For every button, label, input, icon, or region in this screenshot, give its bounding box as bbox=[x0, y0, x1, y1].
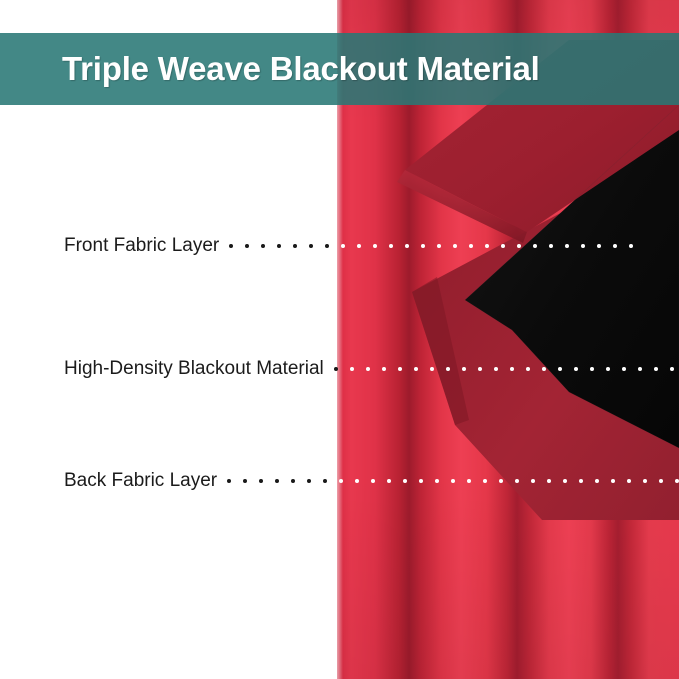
dot-icon bbox=[574, 367, 578, 371]
dot-icon bbox=[565, 244, 569, 248]
dot-icon bbox=[467, 479, 471, 483]
dot-icon bbox=[243, 479, 247, 483]
leader-dots-high-density-blackout-material bbox=[324, 356, 679, 382]
dot-icon bbox=[499, 479, 503, 483]
dot-icon bbox=[469, 244, 473, 248]
dot-icon bbox=[371, 479, 375, 483]
dot-icon bbox=[627, 479, 631, 483]
dot-icon bbox=[373, 244, 377, 248]
callout-back-fabric-layer: Back Fabric Layer bbox=[0, 468, 679, 494]
dot-icon bbox=[659, 479, 663, 483]
dot-icon bbox=[581, 244, 585, 248]
dot-icon bbox=[579, 479, 583, 483]
dot-icon bbox=[494, 367, 498, 371]
dot-icon bbox=[485, 244, 489, 248]
dot-icon bbox=[622, 367, 626, 371]
dot-icon bbox=[547, 479, 551, 483]
dot-icon bbox=[606, 367, 610, 371]
dot-icon bbox=[638, 367, 642, 371]
dot-icon bbox=[387, 479, 391, 483]
page-title: Triple Weave Blackout Material bbox=[62, 50, 540, 88]
dot-icon bbox=[382, 367, 386, 371]
dot-icon bbox=[419, 479, 423, 483]
dot-icon bbox=[451, 479, 455, 483]
dot-icon bbox=[549, 244, 553, 248]
dot-icon bbox=[510, 367, 514, 371]
dot-icon bbox=[414, 367, 418, 371]
product-infographic: Triple Weave Blackout Material Front Fab… bbox=[0, 0, 679, 679]
dot-icon bbox=[533, 244, 537, 248]
dot-icon bbox=[309, 244, 313, 248]
dot-icon bbox=[611, 479, 615, 483]
dot-icon bbox=[325, 244, 329, 248]
header-banner: Triple Weave Blackout Material bbox=[0, 33, 679, 105]
dot-icon bbox=[293, 244, 297, 248]
dot-icon bbox=[366, 367, 370, 371]
dot-icon bbox=[398, 367, 402, 371]
leader-dots-front-fabric-layer bbox=[219, 233, 645, 259]
dot-icon bbox=[613, 244, 617, 248]
dot-icon bbox=[357, 244, 361, 248]
dot-icon bbox=[654, 367, 658, 371]
dot-icon bbox=[558, 367, 562, 371]
callout-label-front-fabric-layer: Front Fabric Layer bbox=[0, 233, 219, 259]
dot-icon bbox=[515, 479, 519, 483]
dot-icon bbox=[563, 479, 567, 483]
dot-icon bbox=[350, 367, 354, 371]
dot-icon bbox=[245, 244, 249, 248]
dot-icon bbox=[670, 367, 674, 371]
dot-icon bbox=[462, 367, 466, 371]
dot-icon bbox=[526, 367, 530, 371]
dot-icon bbox=[478, 367, 482, 371]
dot-icon bbox=[675, 479, 679, 483]
dot-icon bbox=[334, 367, 338, 371]
dot-icon bbox=[403, 479, 407, 483]
dot-icon bbox=[531, 479, 535, 483]
callout-high-density-blackout-material: High-Density Blackout Material bbox=[0, 356, 679, 382]
dot-icon bbox=[517, 244, 521, 248]
dot-icon bbox=[643, 479, 647, 483]
dot-icon bbox=[229, 244, 233, 248]
dot-icon bbox=[307, 479, 311, 483]
dot-icon bbox=[501, 244, 505, 248]
dot-icon bbox=[453, 244, 457, 248]
callout-front-fabric-layer: Front Fabric Layer bbox=[0, 233, 679, 259]
dot-icon bbox=[277, 244, 281, 248]
dot-icon bbox=[629, 244, 633, 248]
dot-icon bbox=[227, 479, 231, 483]
dot-icon bbox=[341, 244, 345, 248]
dot-icon bbox=[389, 244, 393, 248]
dot-icon bbox=[446, 367, 450, 371]
callout-label-back-fabric-layer: Back Fabric Layer bbox=[0, 468, 217, 494]
dot-icon bbox=[291, 479, 295, 483]
dot-icon bbox=[275, 479, 279, 483]
dot-icon bbox=[542, 367, 546, 371]
dot-icon bbox=[421, 244, 425, 248]
dot-icon bbox=[323, 479, 327, 483]
dot-icon bbox=[435, 479, 439, 483]
dot-icon bbox=[483, 479, 487, 483]
dot-icon bbox=[437, 244, 441, 248]
dot-icon bbox=[259, 479, 263, 483]
dot-icon bbox=[405, 244, 409, 248]
dot-icon bbox=[595, 479, 599, 483]
callout-label-high-density-blackout-material: High-Density Blackout Material bbox=[0, 356, 324, 382]
leader-dots-back-fabric-layer bbox=[217, 468, 679, 494]
dot-icon bbox=[261, 244, 265, 248]
dot-icon bbox=[430, 367, 434, 371]
dot-icon bbox=[355, 479, 359, 483]
dot-icon bbox=[590, 367, 594, 371]
dot-icon bbox=[597, 244, 601, 248]
dot-icon bbox=[339, 479, 343, 483]
